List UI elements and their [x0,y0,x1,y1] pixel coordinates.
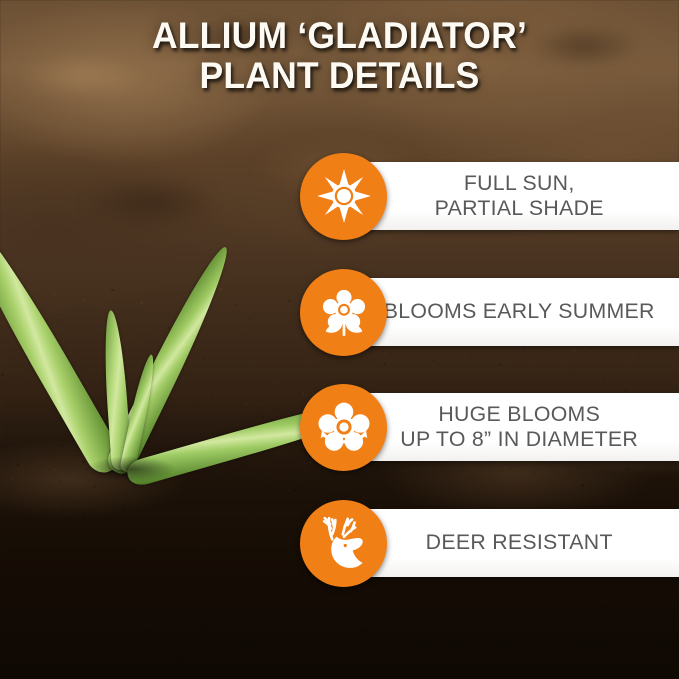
flower-icon [317,285,371,339]
feature-label-line-1: HUGE BLOOMS [438,402,600,426]
feature-label-line-1: DEER RESISTANT [426,530,613,554]
feature-label-line-1: BLOOMS EARLY SUMMER [384,299,655,323]
product-feature-graphic: ALLIUM ‘GLADIATOR’ PLANT DETAILS FULL SU… [0,0,679,679]
feature-row-bloom-time: BLOOMS EARLY SUMMER [300,278,679,346]
feature-row-full-sun: FULL SUN, PARTIAL SHADE [300,162,679,230]
feature-icon-badge-bloom-time [300,269,387,356]
feature-label-line-1: FULL SUN, [464,171,575,195]
feature-icon-badge-bloom-size [300,384,387,471]
feature-label-line-2: UP TO 8” IN DIAMETER [400,427,638,451]
deer-head-icon [313,512,375,574]
feature-label-line-2: PARTIAL SHADE [435,196,604,220]
flower-diameter-icon [315,398,373,456]
sun-icon [316,168,372,224]
feature-list: FULL SUN, PARTIAL SHADE [0,0,679,679]
feature-icon-badge-full-sun [300,153,387,240]
feature-row-deer-resistant: DEER RESISTANT [300,509,679,577]
feature-row-bloom-size: HUGE BLOOMS UP TO 8” IN DIAMETER [300,393,679,461]
feature-icon-badge-deer-resistant [300,500,387,587]
